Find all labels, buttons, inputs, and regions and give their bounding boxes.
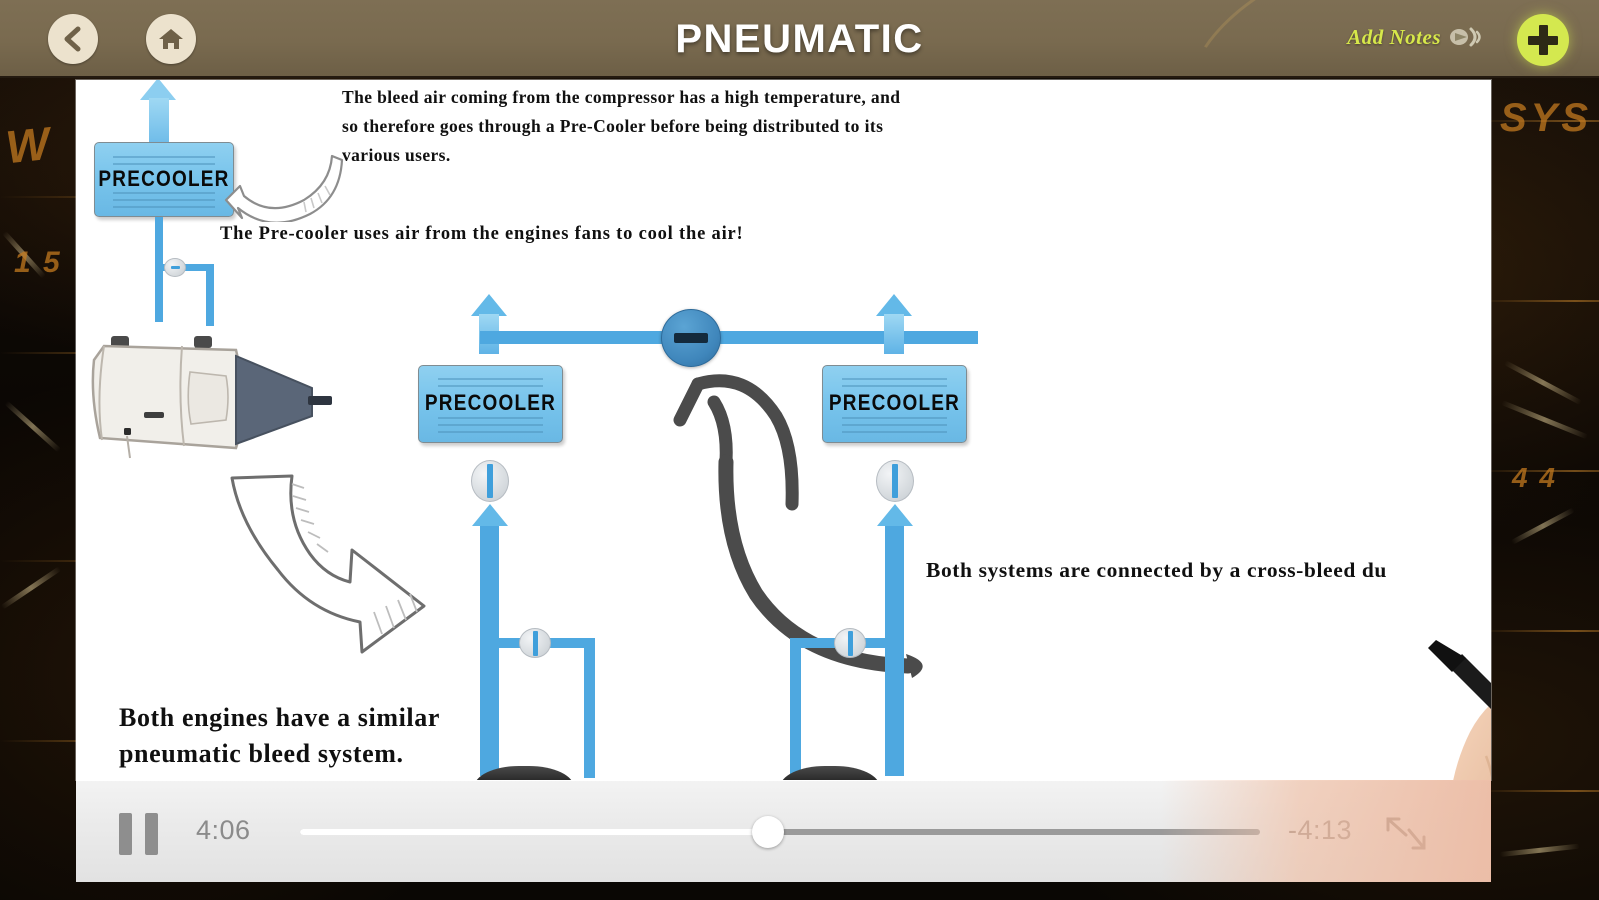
back-button[interactable] [48, 14, 98, 64]
pause-icon [145, 813, 158, 855]
left-main-riser-pipe [480, 526, 499, 776]
left-outlet-arrow [471, 294, 507, 316]
right-outlet-arrow [876, 294, 912, 316]
precooler-label: PRECOOLER [425, 391, 556, 416]
valve-indicator-bar [848, 631, 853, 656]
chevron-left-icon [61, 26, 85, 52]
bg-stripe [1480, 630, 1599, 632]
valve-indicator-bar [892, 464, 898, 498]
left-inlet-arrow [472, 504, 508, 526]
bg-diagram-line [1501, 400, 1588, 439]
valve-indicator-bar [533, 631, 538, 656]
top-left-precooler: PRECOOLER [94, 142, 234, 217]
home-button[interactable] [146, 14, 196, 64]
valve-indicator-bar [171, 266, 180, 269]
valve-indicator-bar [487, 464, 493, 498]
left-branch-down-pipe [584, 638, 595, 778]
progress-handle[interactable] [752, 816, 784, 848]
bleed-air-annotation: The bleed air coming from the compressor… [342, 83, 902, 170]
right-main-riser-pipe [885, 526, 904, 776]
home-icon [157, 26, 185, 52]
right-bleed-valve[interactable] [876, 460, 914, 502]
bg-stripe [1480, 790, 1599, 792]
remaining-time-label: -4:13 [1288, 815, 1352, 846]
left-branch-valve[interactable] [519, 628, 551, 658]
right-branch-down-pipe [790, 638, 801, 778]
bg-stripe [1480, 300, 1599, 302]
precooler-label: PRECOOLER [829, 391, 960, 416]
jet-engine-icon [86, 316, 346, 466]
pause-icon [119, 813, 132, 855]
right-inlet-arrow [877, 504, 913, 526]
left-bleed-valve[interactable] [471, 460, 509, 502]
right-branch-valve[interactable] [834, 628, 866, 658]
bg-diagram-line [1, 566, 62, 609]
bg-glyph: SYS [1500, 96, 1592, 141]
precooler-label: PRECOOLER [98, 167, 229, 192]
bleed-air-up-arrow [140, 80, 176, 100]
cross-bleed-valve[interactable] [661, 309, 721, 367]
plus-icon [1539, 25, 1548, 55]
bg-diagram-line [4, 401, 61, 453]
pause-button[interactable] [109, 812, 167, 856]
right-outlet-pipe [884, 314, 904, 354]
progress-fill [300, 829, 770, 835]
whiteboard-canvas[interactable]: PRECOOLER The bleed air coming from the … [76, 80, 1491, 780]
precooler-fans-annotation: The Pre-cooler uses air from the engines… [220, 224, 744, 245]
both-engines-annotation: Both engines have a similar pneumatic bl… [119, 700, 499, 772]
fullscreen-expand-icon [1388, 819, 1424, 848]
crossbleed-annotation: Both systems are connected by a cross-bl… [926, 558, 1387, 583]
bg-diagram-line [1500, 844, 1580, 857]
header-texture [405, 0, 875, 78]
big-curved-arrow-icon [214, 462, 444, 662]
top-engine-valve[interactable] [164, 258, 186, 277]
progress-slider[interactable] [300, 829, 1260, 835]
fullscreen-button[interactable] [1379, 810, 1431, 856]
left-precooler: PRECOOLER [418, 365, 563, 443]
bg-glyph: W [3, 116, 54, 174]
add-notes-label: Add Notes [1347, 25, 1441, 50]
arrow-pointer-icon [1445, 24, 1487, 50]
bg-diagram-line [1504, 360, 1582, 405]
valve-indicator-bar [674, 333, 708, 343]
video-player-controls[interactable]: 4:06 -4:13 [76, 780, 1491, 882]
current-time-label: 4:06 [196, 815, 251, 846]
add-notes-hint[interactable]: Add Notes [1347, 24, 1487, 50]
bg-glyph: 1 5 [14, 246, 62, 280]
bg-glyph: 4 4 [1512, 462, 1557, 494]
right-precooler: PRECOOLER [822, 365, 967, 443]
curved-arrow-icon [218, 142, 348, 222]
app-header: PNEUMATIC Add Notes [0, 0, 1599, 78]
bg-diagram-line [1511, 507, 1575, 544]
hand-with-marker-icon [1366, 636, 1491, 780]
add-note-button[interactable] [1517, 14, 1569, 66]
